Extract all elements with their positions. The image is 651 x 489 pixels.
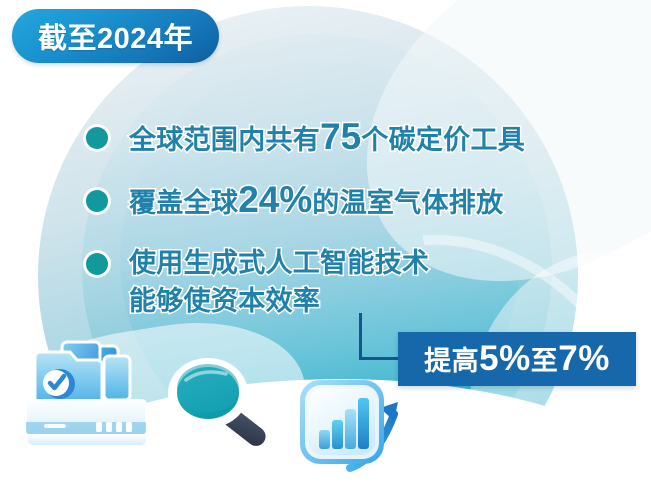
magnifier-icon xyxy=(162,352,288,456)
callout-box-label: 提高5%至7% xyxy=(424,339,610,379)
bullet-list: 全球范围内共有75个碳定价工具 覆盖全球24%的温室气体排放 使用生成式人工智能… xyxy=(86,118,631,342)
bar-chart-growth-icon xyxy=(288,364,406,486)
title-badge-label: 截至2024年 xyxy=(38,15,193,57)
callout-box: 提高5%至7% xyxy=(398,332,636,386)
infographic-poster: 截至2024年 全球范围内共有75个碳定价工具 覆盖全球24%的温室气体排放 使… xyxy=(0,0,651,489)
bullet-item-1: 全球范围内共有75个碳定价工具 xyxy=(86,118,631,159)
title-badge: 截至2024年 xyxy=(12,9,219,63)
bullet-dot-icon xyxy=(86,190,108,212)
bullet-dot-icon xyxy=(86,253,108,275)
bullet-dot-icon xyxy=(86,127,108,149)
bullet-item-1-text: 全球范围内共有75个碳定价工具 xyxy=(129,118,525,159)
file-box-check-icon xyxy=(18,338,160,456)
bullet-item-3: 使用生成式人工智能技术 能够使资本效率 xyxy=(86,244,631,320)
bullet-item-2-text: 覆盖全球24%的温室气体排放 xyxy=(129,181,503,222)
bullet-item-2: 覆盖全球24%的温室气体排放 xyxy=(86,181,631,222)
bullet-item-3-text: 使用生成式人工智能技术 能够使资本效率 xyxy=(129,244,429,320)
